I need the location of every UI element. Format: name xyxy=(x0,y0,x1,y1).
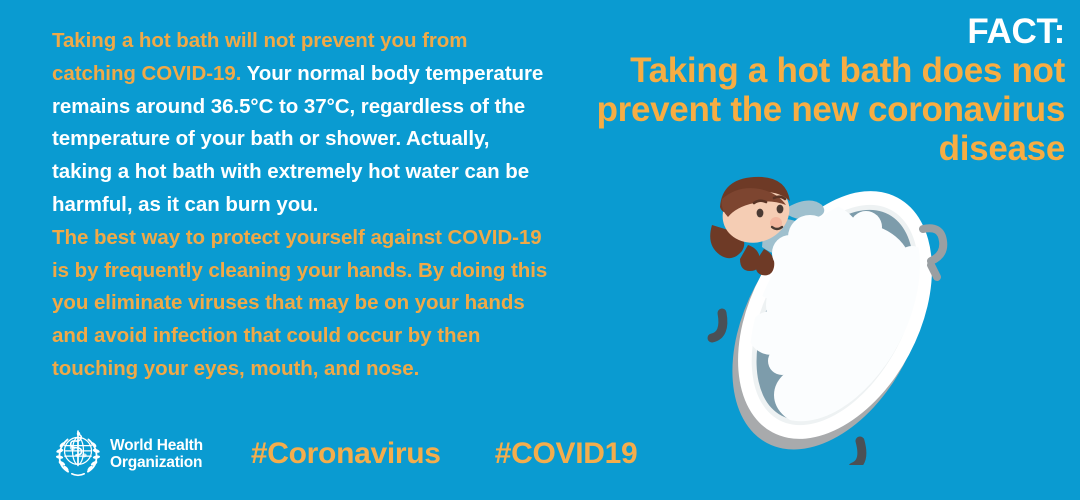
hashtag-covid19[interactable]: #COVID19 xyxy=(495,437,638,471)
footer: World Health Organization #Coronavirus #… xyxy=(52,424,637,484)
body-paragraph-2-accent: The best way to protect yourself against… xyxy=(52,226,547,380)
headline: FACT: Taking a hot bath does not prevent… xyxy=(525,12,1065,168)
who-covid-myth-buster-poster: FACT: Taking a hot bath does not prevent… xyxy=(0,0,1080,500)
who-wordmark-line-2: Organization xyxy=(110,454,203,471)
headline-line-2: prevent the new coronavirus xyxy=(525,90,1065,129)
girl-figure xyxy=(710,173,846,277)
who-wordmark-line-1: World Health xyxy=(110,437,203,454)
body-copy: Taking a hot bath will not prevent you f… xyxy=(52,25,552,386)
who-logo: World Health Organization xyxy=(52,428,203,480)
body-paragraph-2: The best way to protect yourself against… xyxy=(52,222,552,386)
hashtag-coronavirus[interactable]: #Coronavirus xyxy=(251,437,441,471)
who-emblem-icon xyxy=(52,428,104,480)
girl-braid-tail-2 xyxy=(756,249,775,275)
body-paragraph-1: Taking a hot bath will not prevent you f… xyxy=(52,25,552,222)
headline-line-1: Taking a hot bath does not xyxy=(525,51,1065,90)
bathtub-illustration xyxy=(660,165,1010,465)
headline-fact-label: FACT: xyxy=(525,12,1065,51)
headline-line-3: disease xyxy=(525,129,1065,168)
who-wordmark: World Health Organization xyxy=(110,437,203,471)
